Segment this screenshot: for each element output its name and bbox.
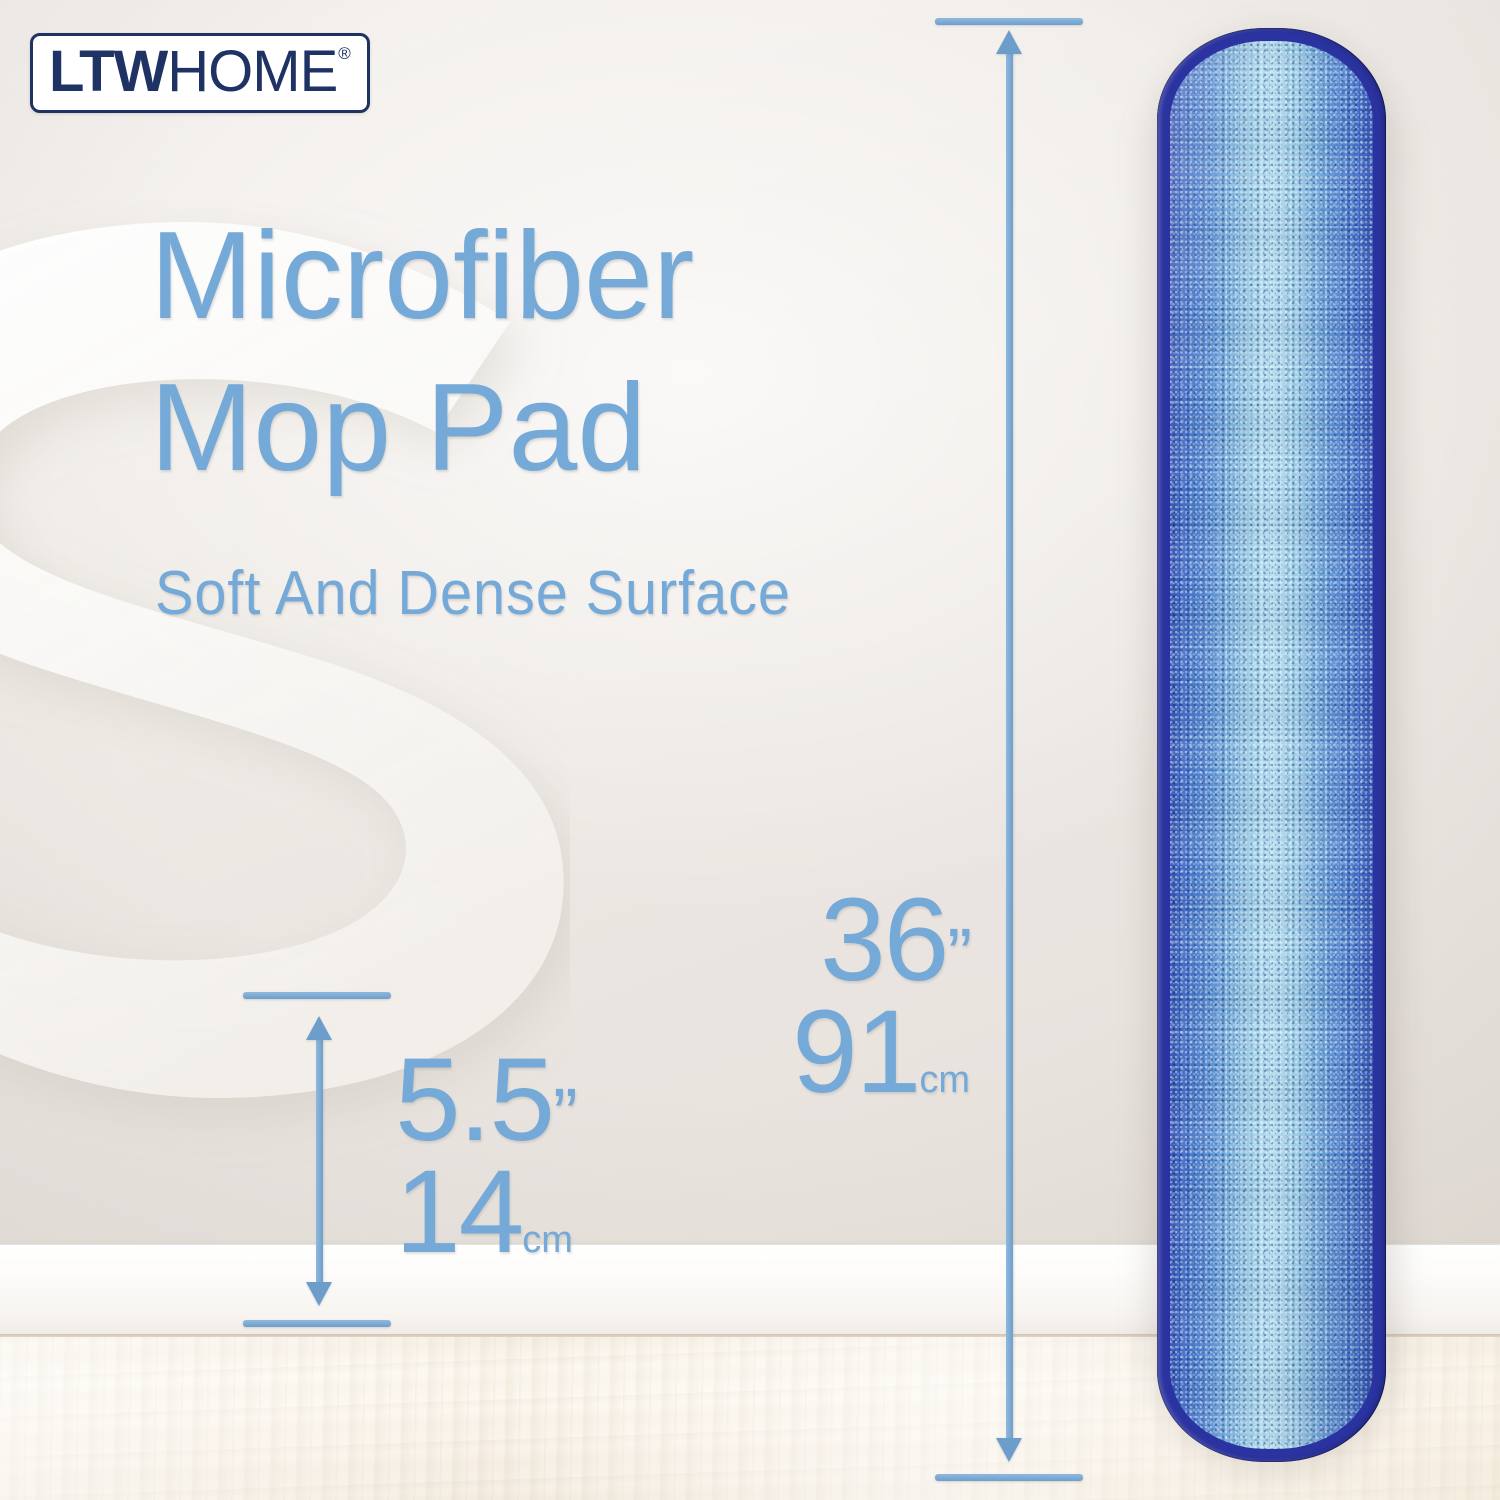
height-value-inches: 36	[820, 884, 947, 996]
width-value-inches: 5.5	[395, 1044, 553, 1156]
headline-line-1: Microfiber	[150, 200, 990, 352]
height-dimension-arrow-up-icon	[996, 30, 1022, 54]
height-label-metric-row: 91cm	[700, 996, 970, 1108]
height-dimension-arrow-down-icon	[996, 1438, 1022, 1462]
width-label-metric-row: 14cm	[395, 1156, 625, 1268]
width-dimension-tick-bottom	[243, 1320, 391, 1327]
height-unit-cm: cm	[919, 1059, 970, 1102]
mop-pad-fiber-face	[1170, 41, 1373, 1449]
registered-trademark-icon: ®	[338, 45, 351, 62]
headline-block: Microfiber Mop Pad	[150, 200, 990, 504]
width-dimension-arrow-down-icon	[306, 1282, 332, 1306]
product-infographic: LTW HOME ® Microfiber Mop Pad Soft And D…	[0, 0, 1500, 1500]
headline-line-2: Mop Pad	[150, 352, 990, 504]
height-dimension-line	[1006, 52, 1013, 1444]
logo-text-home: HOME	[167, 43, 337, 101]
width-value-cm: 14	[395, 1156, 522, 1268]
height-value-cm: 91	[792, 996, 919, 1108]
width-dimension-arrow-up-icon	[306, 1016, 332, 1040]
mop-pad-sheen	[1170, 41, 1373, 1449]
width-label-imperial-row: 5.5”	[395, 1044, 625, 1156]
height-label-imperial-row: 36”	[700, 884, 970, 996]
height-dimension-label: 36” 91cm	[700, 884, 970, 1108]
width-dimension-line	[316, 1038, 323, 1288]
brand-logo: LTW HOME ®	[30, 33, 370, 113]
width-dimension-label: 5.5” 14cm	[395, 1044, 625, 1268]
subheadline: Soft And Dense Surface	[155, 558, 791, 630]
width-unit-cm: cm	[522, 1219, 573, 1262]
width-dimension-tick-top	[243, 992, 391, 999]
height-dimension-tick-top	[935, 18, 1083, 25]
height-dimension-tick-bottom	[935, 1474, 1083, 1481]
microfiber-mop-pad	[1157, 28, 1386, 1462]
logo-text-ltw: LTW	[49, 43, 167, 101]
